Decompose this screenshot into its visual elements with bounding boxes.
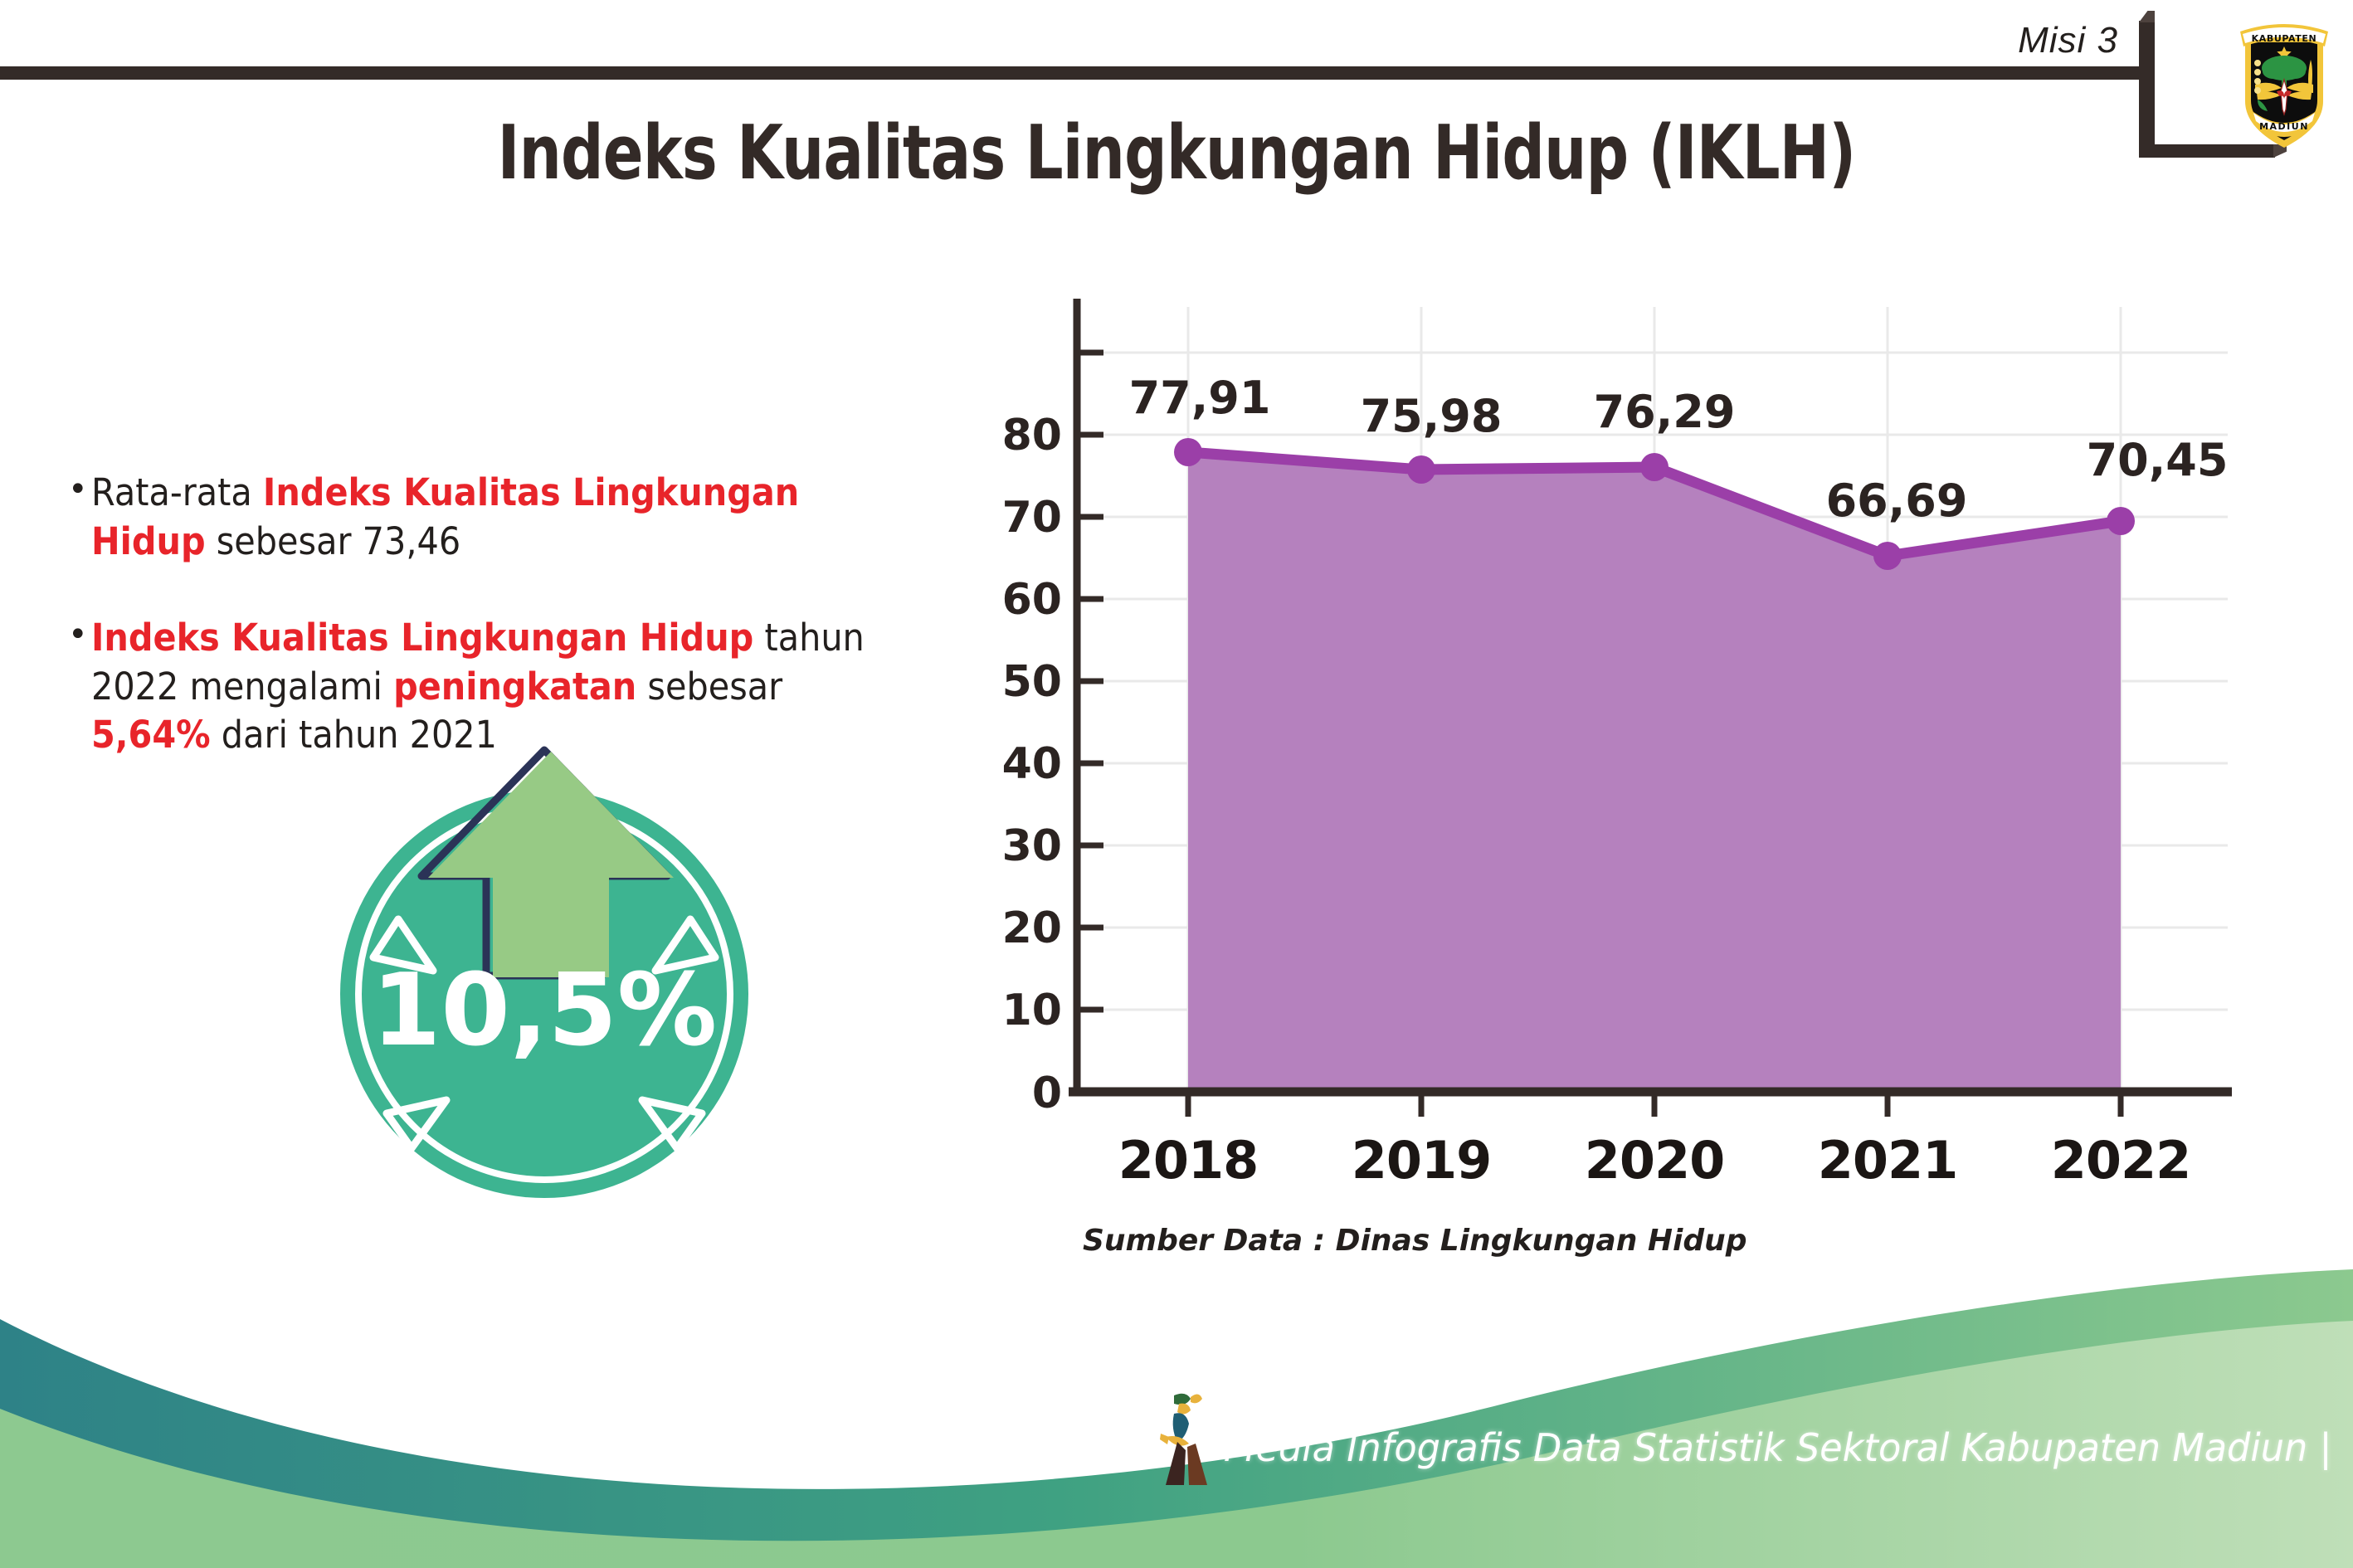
kabupaten-madiun-logo-icon: KABUPATEN MADIUN (2232, 12, 2336, 153)
y-tick-label: 70 (1002, 493, 1062, 543)
x-tick-label: 2018 (1118, 1130, 1259, 1191)
data-label: 75,98 (1361, 390, 1503, 442)
bullet-seg-highlight: Indeks Kualitas Lingkungan Hidup (91, 616, 753, 660)
data-point-marker (2107, 507, 2135, 535)
bullet-seg: Rata-rata (91, 470, 263, 514)
bullet-rata-rata-text: Rata-rata Indeks Kualitas Lingkungan Hid… (91, 469, 894, 566)
y-tick-label: 60 (1002, 575, 1062, 625)
y-tick-label: 10 (1002, 986, 1062, 1035)
y-tick-label: 20 (1002, 903, 1062, 953)
x-tick-label: 2021 (1818, 1130, 1958, 1191)
slide-canvas: Misi 3 KABUPATEN (0, 0, 2353, 1568)
y-tick-labels: 0 10 20 30 40 50 60 70 80 (1002, 411, 1062, 1118)
data-label: 66,69 (1826, 475, 1968, 527)
bullet-seg: sebesar (636, 665, 782, 709)
source-note: Sumber Data : Dinas Lingkungan Hidup (1083, 1224, 1747, 1258)
x-tick-label: 2019 (1352, 1130, 1492, 1191)
badge-percentage: 10,5% (372, 953, 717, 1069)
madiun-mascot-icon (1149, 1385, 1225, 1493)
svg-text:MADIUN: MADIUN (2259, 121, 2309, 132)
page-title: Indeks Kualitas Lingkungan Hidup (IKLH) (236, 110, 2118, 197)
y-tick-label: 80 (1002, 411, 1062, 460)
bullet-seg: sebesar 73,46 (205, 519, 460, 563)
header-rule (0, 66, 2139, 80)
bullet-dot-icon: • (68, 614, 88, 656)
x-tick-label: 2020 (1585, 1130, 1725, 1191)
y-tick-label: 50 (1002, 657, 1062, 707)
y-tick-label: 30 (1002, 821, 1062, 871)
bullet-seg-highlight: peningkatan (393, 665, 636, 709)
bullet-dot-icon: • (68, 469, 88, 511)
data-point-marker (1873, 542, 1902, 570)
header-bracket-vertical (2139, 21, 2155, 158)
footer-caption: Media Infografis Data Statistik Sektoral… (1224, 1425, 2332, 1470)
bullet-rata-rata: • Rata-rata Indeks Kualitas Lingkungan H… (68, 469, 964, 566)
data-point-marker (1407, 455, 1435, 484)
data-point-marker (1640, 453, 1669, 481)
x-tick-label: 2022 (2051, 1130, 2191, 1191)
y-axis-ticks (1077, 353, 1103, 1010)
data-label: 70,45 (2087, 434, 2229, 486)
data-label: 77,91 (1129, 372, 1271, 424)
x-tick-labels: 2018 2019 2020 2021 2022 (1118, 1130, 2191, 1191)
y-tick-label: 40 (1002, 739, 1062, 789)
area-fill (1188, 452, 2121, 1092)
y-tick-label: 0 (1032, 1069, 1062, 1118)
iklh-area-chart: 0 10 20 30 40 50 60 70 80 2018 2019 2020… (979, 274, 2273, 1203)
data-point-marker (1174, 438, 1202, 466)
misi-label: Misi 3 (2018, 20, 2118, 61)
svg-text:KABUPATEN: KABUPATEN (2252, 33, 2317, 44)
growth-badge: 10,5% (322, 735, 767, 1200)
data-label: 76,29 (1594, 386, 1736, 438)
bullet-seg-highlight: 5,64% (91, 713, 211, 757)
